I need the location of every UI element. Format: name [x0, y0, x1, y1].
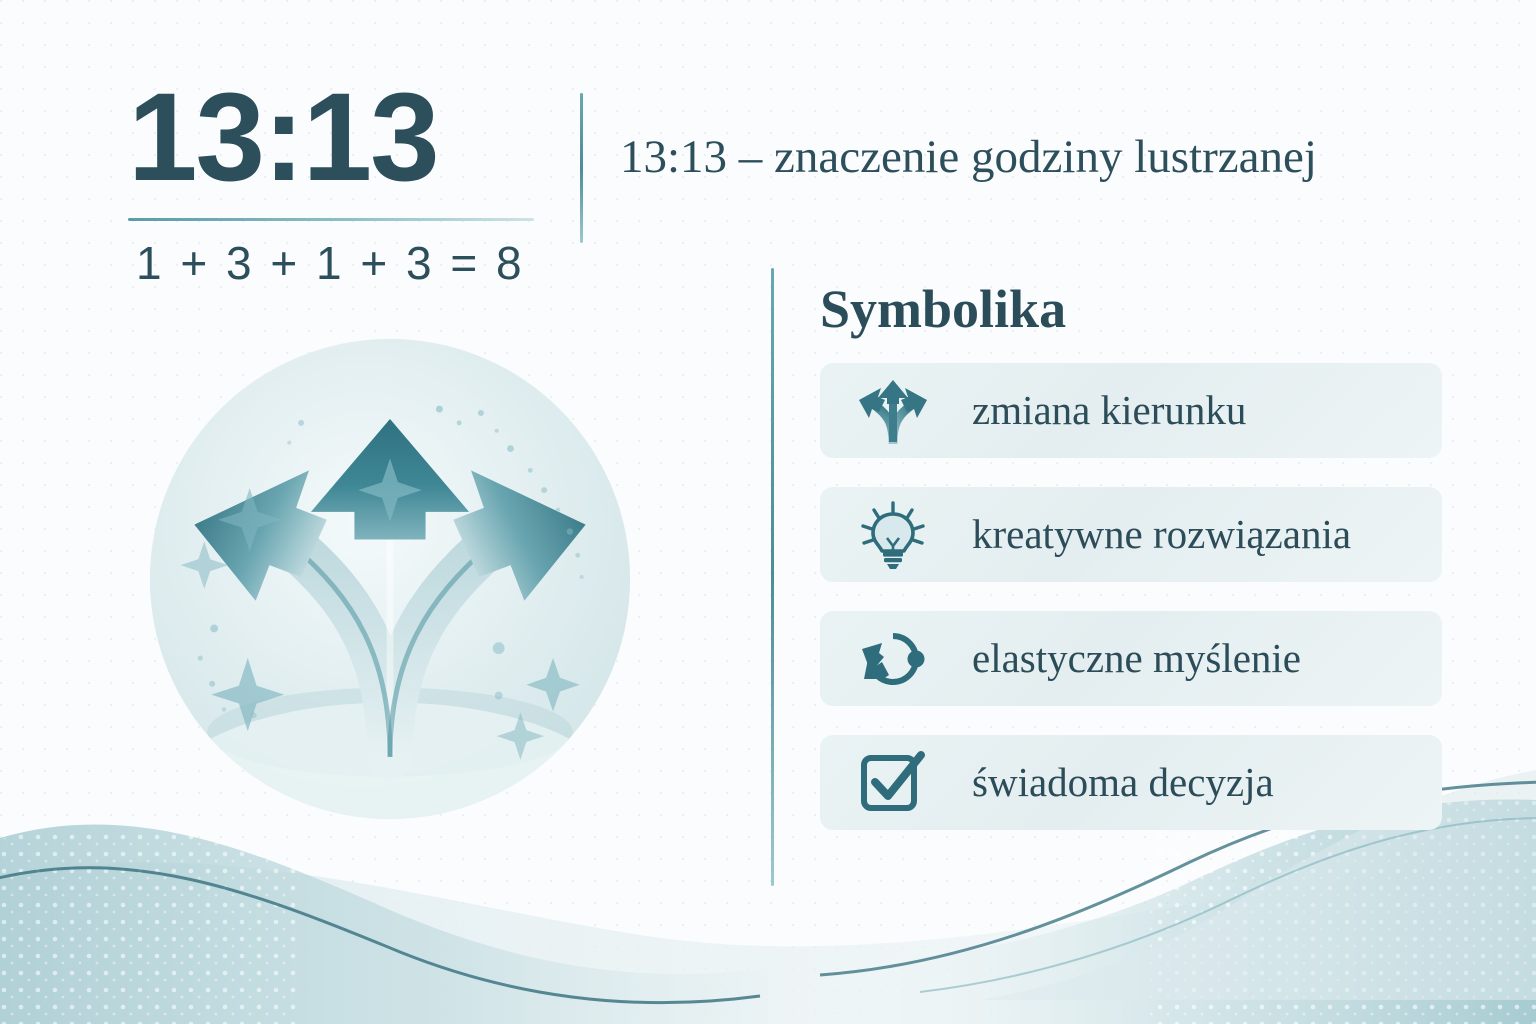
three-way-arrow-icon	[856, 376, 930, 446]
header-vertical-divider	[580, 93, 583, 243]
list-item-label: kreatywne rozwiązania	[972, 514, 1351, 555]
cycle-arrows-icon	[856, 624, 930, 694]
time-underline-rule	[128, 218, 534, 221]
digit-sum-equation: 1 + 3 + 1 + 3 = 8	[136, 236, 525, 290]
list-item-label: świadoma decyzja	[972, 762, 1274, 803]
mirror-hour-time: 13:13	[128, 72, 438, 203]
list-item[interactable]: zmiana kierunku	[820, 363, 1442, 458]
list-item[interactable]: elastyczne myślenie	[820, 611, 1442, 706]
list-item-label: elastyczne myślenie	[972, 638, 1301, 679]
left-column: 13:13 1 + 3 + 1 + 3 = 8	[0, 0, 580, 1024]
section-heading-symbolika: Symbolika	[820, 278, 1066, 340]
list-item-label: zmiana kierunku	[972, 390, 1246, 431]
list-item[interactable]: kreatywne rozwiązania	[820, 487, 1442, 582]
list-vertical-divider	[771, 268, 774, 886]
checkbox-check-icon	[856, 748, 930, 818]
three-way-arrows-illustration	[143, 332, 637, 826]
list-item[interactable]: świadoma decyzja	[820, 735, 1442, 830]
lightbulb-icon	[856, 500, 930, 570]
page-title: 13:13 – znaczenie godziny lustrzanej	[620, 130, 1520, 184]
symbolika-list: zmiana kierunku	[820, 363, 1442, 830]
